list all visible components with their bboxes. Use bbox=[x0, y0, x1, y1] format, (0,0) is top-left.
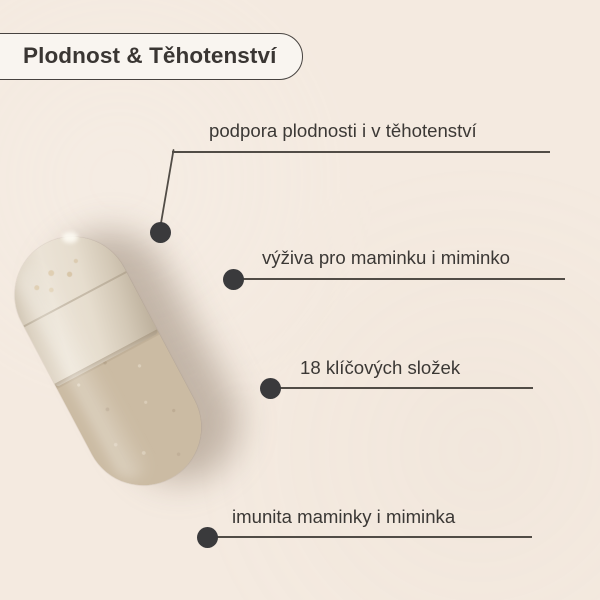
callout-1-rule bbox=[172, 151, 550, 153]
callout-3-label: 18 klíčových složek bbox=[300, 359, 460, 378]
title-badge: Plodnost & Těhotenství bbox=[0, 33, 303, 80]
callout-dot-2 bbox=[223, 269, 244, 290]
callout-4-rule bbox=[214, 536, 532, 538]
capsule-specular-dot bbox=[62, 232, 78, 243]
callout-2-rule bbox=[240, 278, 565, 280]
callout-4-label: imunita maminky i miminka bbox=[232, 508, 455, 527]
callout-1-leader-line bbox=[155, 148, 185, 230]
promo-graphic: Plodnost & Těhotenství podpora plodnosti… bbox=[0, 0, 600, 600]
callout-1-label: podpora plodnosti i v těhotenství bbox=[209, 122, 477, 141]
callout-dot-1 bbox=[150, 222, 171, 243]
callout-2-label: výživa pro maminku i miminko bbox=[262, 249, 510, 268]
page-title: Plodnost & Těhotenství bbox=[23, 45, 276, 68]
callout-dot-4 bbox=[197, 527, 218, 548]
callout-3-rule bbox=[277, 387, 533, 389]
callout-dot-3 bbox=[260, 378, 281, 399]
